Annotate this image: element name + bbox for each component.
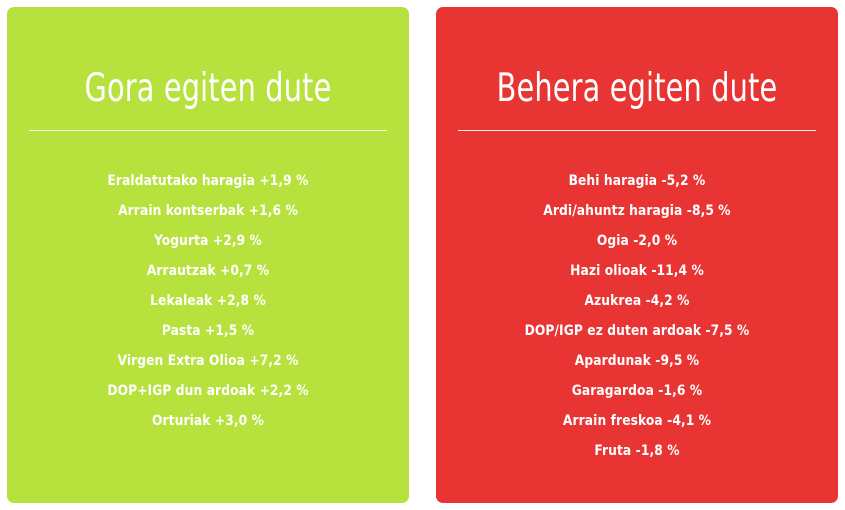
price-change-item: Lekaleak +2,8 %: [32, 286, 384, 316]
price-change-item: Virgen Extra Olioa +7,2 %: [32, 346, 384, 376]
price-change-item: DOP/IGP ez duten ardoak -7,5 %: [461, 316, 813, 346]
price-change-item: DOP+IGP dun ardoak +2,2 %: [32, 376, 384, 406]
price-change-item: Apardunak -9,5 %: [461, 346, 813, 376]
price-change-item: Arrain kontserbak +1,6 %: [32, 196, 384, 226]
rising-items-list: Eraldatutako haragia +1,9 %Arrain kontse…: [21, 166, 395, 436]
rising-panel-divider: [29, 130, 387, 131]
price-change-item: Fruta -1,8 %: [461, 436, 813, 466]
price-change-item: Pasta +1,5 %: [32, 316, 384, 346]
falling-panel-title: Behera egiten dute: [484, 69, 791, 108]
rising-panel-title: Gora egiten dute: [55, 69, 362, 108]
falling-panel-divider: [458, 130, 816, 131]
price-change-item: Ardi/ahuntz haragia -8,5 %: [461, 196, 813, 226]
price-change-item: Yogurta +2,9 %: [32, 226, 384, 256]
price-change-item: Ogia -2,0 %: [461, 226, 813, 256]
price-change-item: Arrain freskoa -4,1 %: [461, 406, 813, 436]
falling-items-list: Behi haragia -5,2 %Ardi/ahuntz haragia -…: [450, 166, 824, 466]
price-change-item: Azukrea -4,2 %: [461, 286, 813, 316]
price-change-item: Eraldatutako haragia +1,9 %: [32, 166, 384, 196]
price-change-item: Hazi olioak -11,4 %: [461, 256, 813, 286]
price-change-item: Arrautzak +0,7 %: [32, 256, 384, 286]
price-change-item: Orturiak +3,0 %: [32, 406, 384, 436]
price-change-item: Behi haragia -5,2 %: [461, 166, 813, 196]
comparison-board: Gora egiten dute Eraldatutako haragia +1…: [0, 0, 845, 510]
price-change-item: Garagardoa -1,6 %: [461, 376, 813, 406]
falling-prices-panel: Behera egiten dute Behi haragia -5,2 %Ar…: [436, 7, 838, 503]
rising-prices-panel: Gora egiten dute Eraldatutako haragia +1…: [7, 7, 409, 503]
